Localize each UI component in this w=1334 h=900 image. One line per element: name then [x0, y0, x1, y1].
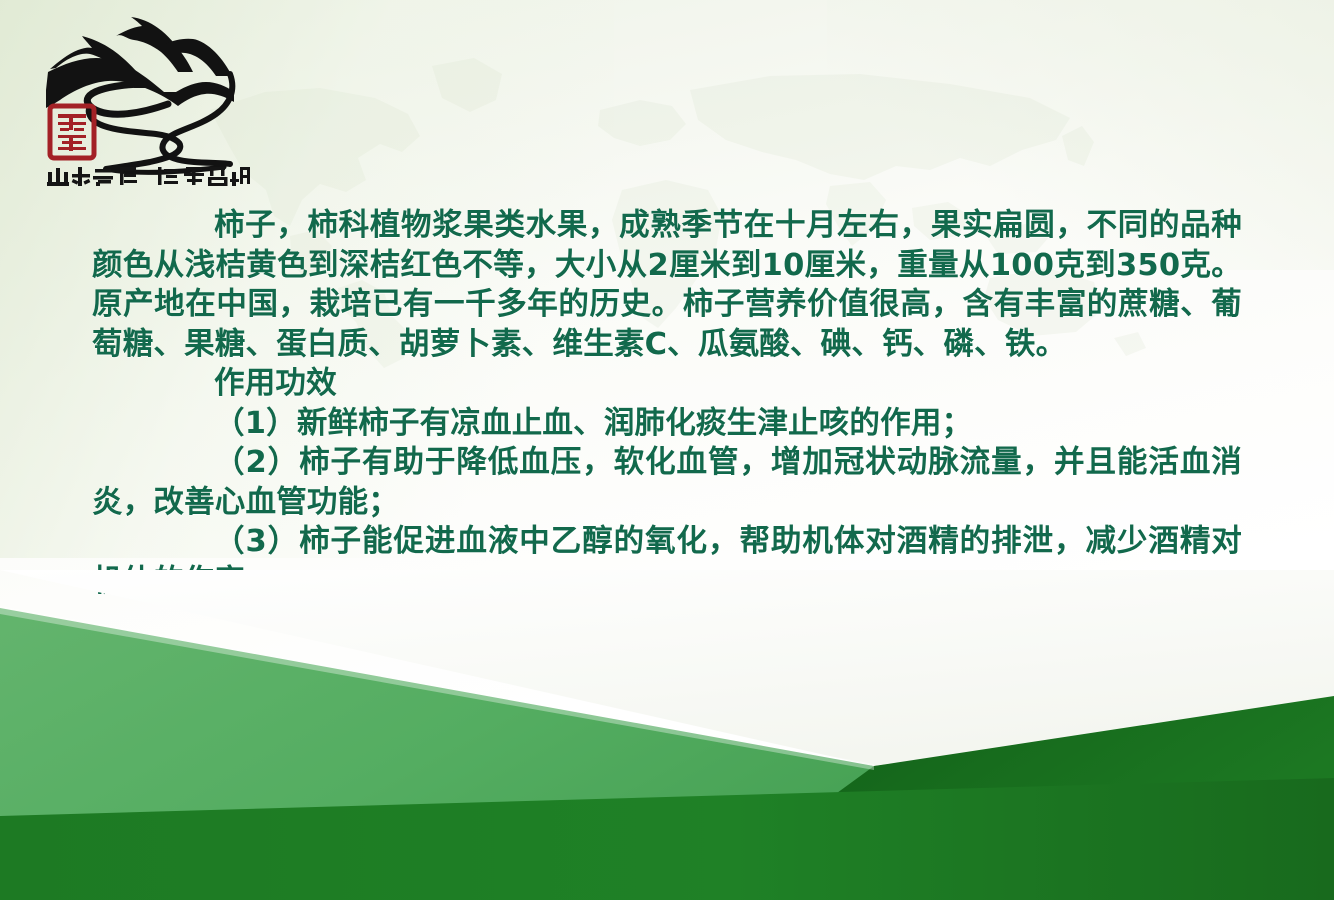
brand-logo [38, 14, 250, 189]
intro-paragraph: 柿子，柿科植物浆果类水果，成熟季节在十月左右，果实扁圆，不同的品种颜色从浅桔黄色… [92, 206, 1242, 364]
presentation-slide: 柿子，柿科植物浆果类水果，成熟季节在十月左右，果实扁圆，不同的品种颜色从浅桔黄色… [0, 0, 1334, 900]
effect-item-1: （1）新鲜柿子有凉血止血、润肺化痰生津止咳的作用； [92, 404, 1242, 444]
section-heading: 作用功效 [92, 364, 1242, 404]
effect-item-2: （2）柿子有助于降低血压，软化血管，增加冠状动脉流量，并且能活血消炎，改善心血管… [92, 443, 1242, 522]
slide-body: 柿子，柿科植物浆果类水果，成熟季节在十月左右，果实扁圆，不同的品种颜色从浅桔黄色… [92, 206, 1242, 601]
effect-item-3: （3）柿子能促进血液中乙醇的氧化，帮助机体对酒精的排泄，减少酒精对机体的伤害。 [92, 522, 1242, 601]
